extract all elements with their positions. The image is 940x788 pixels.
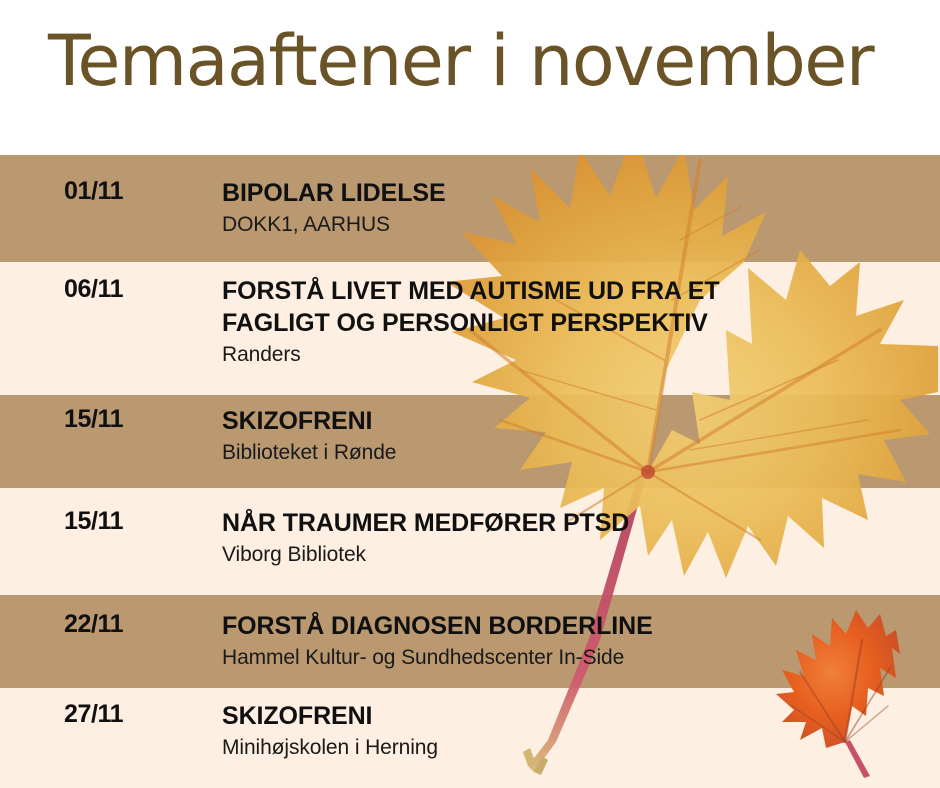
- event-title: NÅR TRAUMER MEDFØRER PTSD: [222, 507, 930, 539]
- event-body: BIPOLAR LIDELSEDOKK1, AARHUS: [222, 177, 930, 238]
- event-body: NÅR TRAUMER MEDFØRER PTSDViborg Bibliote…: [222, 507, 930, 568]
- event-title: FORSTÅ DIAGNOSEN BORDERLINE: [222, 610, 930, 642]
- event-date: 15/11: [64, 405, 123, 434]
- event-date: 15/11: [64, 507, 123, 536]
- event-venue: Viborg Bibliotek: [222, 542, 930, 568]
- event-body: FORSTÅ DIAGNOSEN BORDERLINEHammel Kultur…: [222, 610, 930, 671]
- event-venue: DOKK1, AARHUS: [222, 212, 930, 238]
- event-title: SKIZOFRENI: [222, 405, 930, 437]
- event-venue: Randers: [222, 342, 930, 368]
- event-venue: Biblioteket i Rønde: [222, 440, 930, 466]
- event-title: SKIZOFRENI: [222, 700, 930, 732]
- event-body: FORSTÅ LIVET MED AUTISME UD FRA ET FAGLI…: [222, 275, 930, 368]
- event-date: 22/11: [64, 610, 123, 639]
- event-body: SKIZOFRENIMinihøjskolen i Herning: [222, 700, 930, 761]
- event-title: BIPOLAR LIDELSE: [222, 177, 930, 209]
- event-date: 06/11: [64, 275, 123, 304]
- event-date: 27/11: [64, 700, 123, 729]
- page-title: Temaaftener i november: [48, 26, 873, 96]
- poster-header: Temaaftener i november: [0, 0, 940, 155]
- event-title: FORSTÅ LIVET MED AUTISME UD FRA ET FAGLI…: [222, 275, 930, 339]
- event-list: 01/11BIPOLAR LIDELSEDOKK1, AARHUS06/11FO…: [0, 155, 940, 788]
- event-venue: Hammel Kultur- og Sundhedscenter In-Side: [222, 645, 930, 671]
- event-venue: Minihøjskolen i Herning: [222, 735, 930, 761]
- event-body: SKIZOFRENIBiblioteket i Rønde: [222, 405, 930, 466]
- poster-canvas: Temaaftener i november 01/11BIPOLAR LIDE…: [0, 0, 940, 788]
- event-date: 01/11: [64, 177, 123, 206]
